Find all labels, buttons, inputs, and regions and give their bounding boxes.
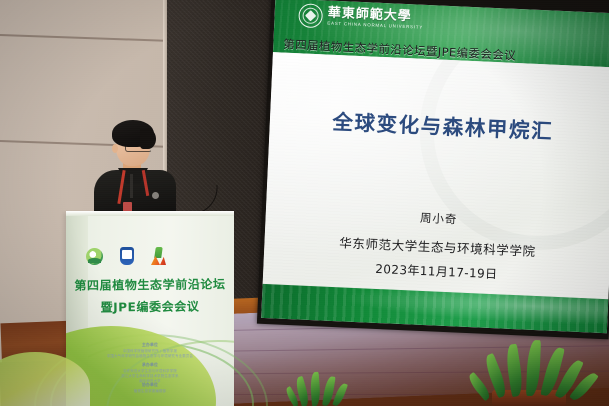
- leaf: [526, 340, 541, 396]
- lectern-title-line1: 第四届植物生态学前沿论坛: [66, 275, 234, 294]
- presenter-placket: [130, 174, 133, 198]
- lectern-top-edge: [66, 211, 234, 216]
- organizer-line: 植物生态学报编辑部: [134, 389, 166, 393]
- presenter: [92, 118, 178, 218]
- leaf: [310, 372, 321, 406]
- organizer-block: 主办单位 中国科学院植物研究所 / 植物学报 中国大气科学研究会植物生态学与环境…: [66, 342, 234, 359]
- conference-photo: 華東師範大學 EAST CHINA NORMAL UNIVERSITY 第四届植…: [0, 0, 609, 406]
- stage-plant-center: [292, 372, 362, 406]
- organizer-line: 中国科学院植物研究所 / 植物学报: [123, 349, 177, 353]
- presenter-hair: [112, 120, 154, 147]
- shirt-logo-icon: [152, 192, 159, 199]
- organizer-line: 中国大气科学研究会植物生态学与环境研究专业委员会: [107, 354, 193, 358]
- university-shield-logo-icon: [120, 247, 134, 265]
- organizer-heading: 承办单位: [66, 362, 234, 368]
- screen-surface: 華東師範大學 EAST CHINA NORMAL UNIVERSITY 第四届植…: [261, 0, 609, 333]
- organizer-block: 协办单位 植物生态学报编辑部: [66, 382, 234, 394]
- organizer-line: 浙江大学生命科学技术学院生态学系: [121, 374, 178, 378]
- slide-speaker-name: 周小奇: [420, 210, 458, 228]
- stage-plant-right: [478, 336, 608, 406]
- presenter-ear: [112, 144, 118, 153]
- leaf: [504, 344, 525, 397]
- ecnu-seal-icon: [298, 3, 323, 28]
- lectern-title-line2: 暨JPE编委会会议: [66, 297, 234, 316]
- plant-ecology-logo-icon: [86, 248, 103, 265]
- ecnu-logo: 華東師範大學 EAST CHINA NORMAL UNIVERSITY: [298, 3, 424, 33]
- organizer-heading: 主办单位: [66, 342, 234, 348]
- leaf: [332, 382, 348, 406]
- projection-screen: 華東師範大學 EAST CHINA NORMAL UNIVERSITY 第四届植…: [257, 0, 609, 339]
- lectern-logo-row: [86, 247, 166, 265]
- organizer-heading: 协办单位: [66, 382, 234, 388]
- stage-plant-left: [0, 352, 78, 406]
- journal-flame-logo-icon: [151, 247, 166, 265]
- organizer-line: 华东师范大学生态与环境科学学院: [123, 369, 177, 373]
